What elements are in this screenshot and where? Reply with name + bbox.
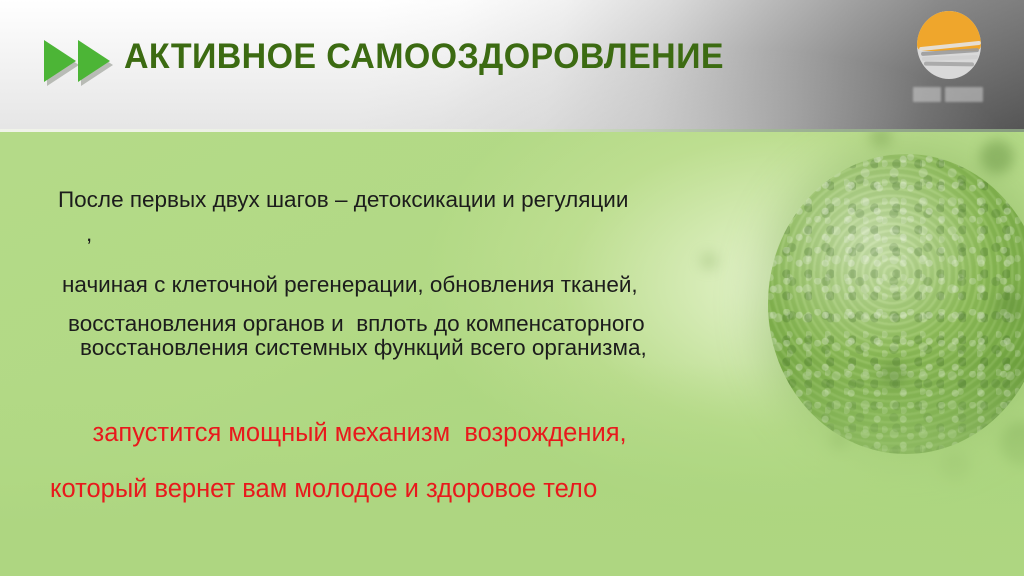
- slide: АКТИВНОЕ САМООЗДОРОВЛЕНИЕ: [0, 0, 1024, 576]
- paragraph-line-4: восстановления органов и вплоть до компе…: [68, 311, 645, 337]
- chevron-1: [44, 40, 76, 82]
- paragraph-line-1: После первых двух шагов – детоксикации и…: [58, 187, 628, 213]
- slide-text-layer: После первых двух шагов – детоксикации и…: [0, 132, 1024, 576]
- chevron-2: [78, 40, 110, 82]
- paragraph-line-2: ,: [86, 221, 92, 247]
- paragraph-line-3: начиная с клеточной регенерации, обновле…: [62, 272, 638, 298]
- double-chevron-right-icon: [44, 35, 122, 87]
- highlight-line-1: запустится мощный механизм возрождения,: [93, 419, 627, 447]
- slide-header: АКТИВНОЕ САМООЗДОРОВЛЕНИЕ: [0, 0, 1024, 132]
- logo-caption-block-2: [945, 87, 983, 102]
- logo: [913, 11, 985, 115]
- logo-circle: [917, 11, 981, 79]
- highlight-text: запустится мощный механизм возрождения, …: [50, 391, 627, 559]
- page-title: АКТИВНОЕ САМООЗДОРОВЛЕНИЕ: [124, 37, 724, 77]
- paragraph-line-5: восстановления системных функций всего о…: [80, 335, 647, 361]
- highlight-line-2: который вернет вам молодое и здоровое те…: [50, 475, 627, 503]
- logo-caption-block-1: [913, 87, 941, 102]
- logo-caption: [913, 87, 985, 103]
- wave-line-4: [924, 62, 974, 67]
